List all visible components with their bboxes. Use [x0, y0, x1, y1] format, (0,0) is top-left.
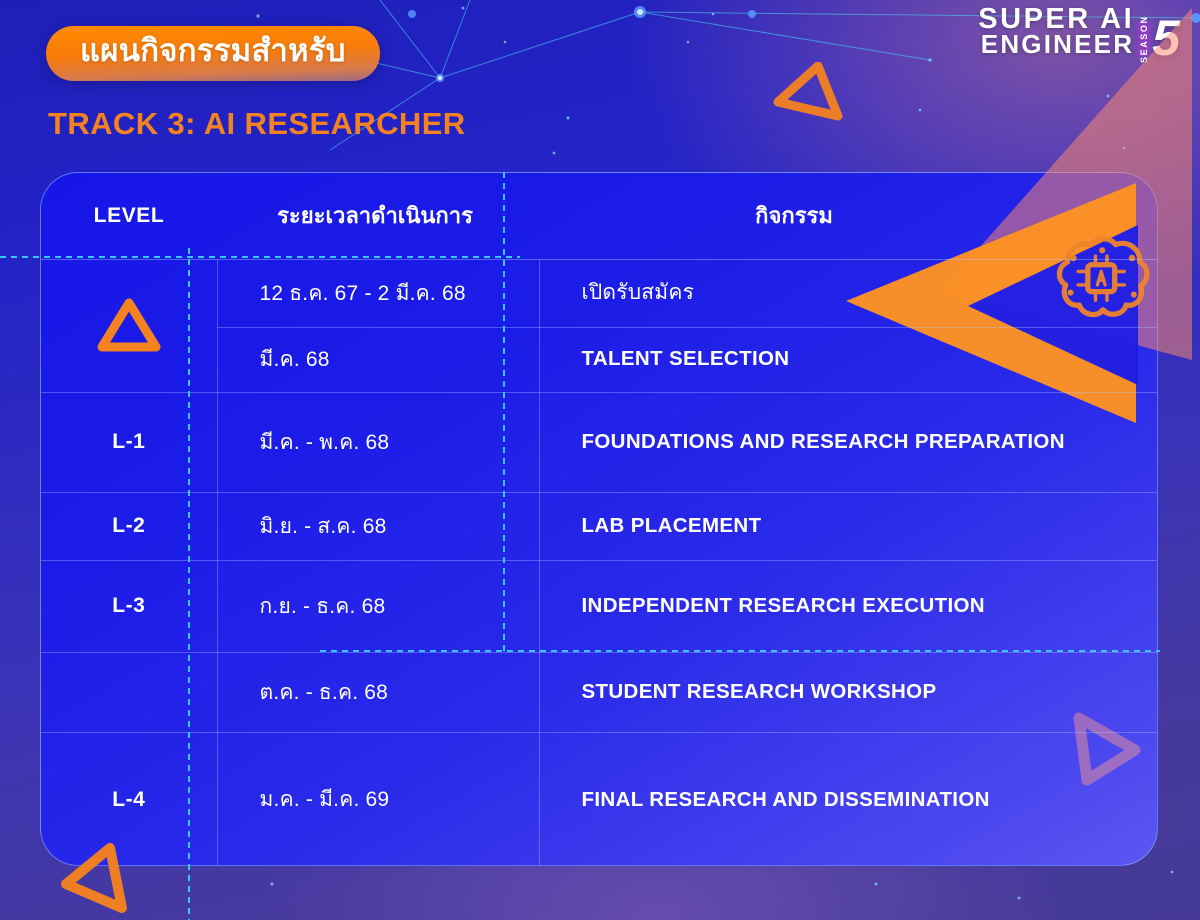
cell-period: ก.ย. - ธ.ค. 68 — [217, 560, 539, 652]
cell-period: มิ.ย. - ส.ค. 68 — [217, 492, 539, 560]
super-ai-engineer-logo: SUPER AI ENGINEER SEASON 5 — [978, 6, 1178, 57]
table-header-row: LEVEL ระยะเวลาดำเนินการ กิจกรรม — [41, 173, 1158, 259]
cell-activity: FINAL RESEARCH AND DISSEMINATION — [539, 732, 1158, 866]
cell-level: L-4 — [41, 732, 217, 866]
column-header-activity: กิจกรรม — [539, 173, 1158, 259]
page-header: แผนกิจกรรมสำหรับ TRACK 3: AI RESEARCHER … — [0, 0, 1200, 165]
logo-wordmark: SUPER AI ENGINEER — [978, 6, 1134, 57]
plan-badge-label: แผนกิจกรรมสำหรับ — [80, 35, 346, 68]
cell-period: ต.ค. - ธ.ค. 68 — [217, 652, 539, 732]
table-row: L-4 ม.ค. - มี.ค. 69 FINAL RESEARCH AND D… — [41, 732, 1158, 866]
activity-plan-table: LEVEL ระยะเวลาดำเนินการ กิจกรรม 12 ธ.ค. … — [41, 173, 1158, 866]
cell-level: L-3 — [41, 560, 217, 652]
logo-season-badge: SEASON — [1137, 22, 1151, 56]
column-header-period: ระยะเวลาดำเนินการ — [217, 173, 539, 259]
cell-level — [41, 652, 217, 732]
plan-badge: แผนกิจกรรมสำหรับ — [46, 26, 380, 81]
schedule-card: LEVEL ระยะเวลาดำเนินการ กิจกรรม 12 ธ.ค. … — [40, 172, 1158, 866]
triangle-outline-icon — [96, 297, 162, 355]
table-row: 12 ธ.ค. 67 - 2 มี.ค. 68 เปิดรับสมัคร — [41, 259, 1158, 327]
logo-season-number: 5 — [1152, 18, 1178, 59]
table-row: L-2 มิ.ย. - ส.ค. 68 LAB PLACEMENT — [41, 492, 1158, 560]
cell-activity: TALENT SELECTION — [539, 327, 1158, 392]
cell-activity: FOUNDATIONS AND RESEARCH PREPARATION — [539, 392, 1158, 492]
cell-period: มี.ค. 68 — [217, 327, 539, 392]
cell-period: มี.ค. - พ.ค. 68 — [217, 392, 539, 492]
cell-level: L-1 — [41, 392, 217, 492]
cell-level: L-2 — [41, 492, 217, 560]
logo-line-2: ENGINEER — [981, 33, 1134, 57]
cell-activity: LAB PLACEMENT — [539, 492, 1158, 560]
cell-activity: INDEPENDENT RESEARCH EXECUTION — [539, 560, 1158, 652]
cell-period: ม.ค. - มี.ค. 69 — [217, 732, 539, 866]
table-row: L-1 มี.ค. - พ.ค. 68 FOUNDATIONS AND RESE… — [41, 392, 1158, 492]
cell-activity: เปิดรับสมัคร — [539, 259, 1158, 327]
table-row: L-3 ก.ย. - ธ.ค. 68 INDEPENDENT RESEARCH … — [41, 560, 1158, 652]
column-header-level: LEVEL — [41, 173, 217, 259]
table-row: ต.ค. - ธ.ค. 68 STUDENT RESEARCH WORKSHOP — [41, 652, 1158, 732]
page-title: TRACK 3: AI RESEARCHER — [48, 106, 466, 142]
cell-level — [41, 259, 217, 392]
cell-activity: STUDENT RESEARCH WORKSHOP — [539, 652, 1158, 732]
cell-period: 12 ธ.ค. 67 - 2 มี.ค. 68 — [217, 259, 539, 327]
